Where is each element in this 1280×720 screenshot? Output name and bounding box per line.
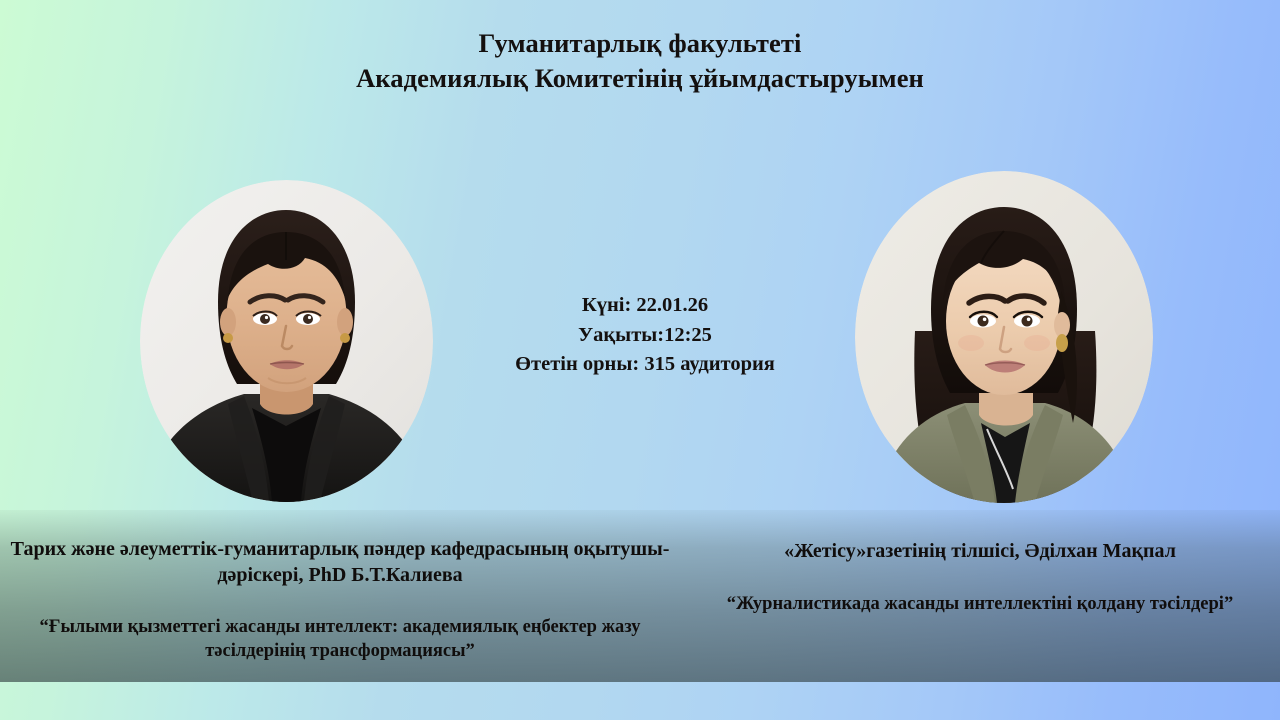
speaker-left-topic: “Ғылыми қызметтегі жасанды интеллект: ак… <box>10 615 670 664</box>
event-poster: Гуманитарлық факультеті Академиялық Коми… <box>0 0 1280 720</box>
event-details: Күні: 22.01.26 Уақыты:12:25 Өтетін орны:… <box>440 291 850 380</box>
speaker-right-caption: «Жетісу»газетінің тілшісі, Әділхан Мақпа… <box>690 538 1270 617</box>
speaker-right-name: «Жетісу»газетінің тілшісі, Әділхан Мақпа… <box>690 538 1270 564</box>
portrait-right-illustration <box>855 171 1153 503</box>
poster-header: Гуманитарлық факультеті Академиялық Коми… <box>0 26 1280 96</box>
speaker-right-topic: “Журналистикада жасанды интеллектіні қол… <box>690 592 1270 616</box>
event-date: Күні: 22.01.26 <box>440 291 850 321</box>
portrait-photo-speaker-left <box>140 180 433 502</box>
event-time: Уақыты:12:25 <box>440 321 850 351</box>
portrait-left-illustration <box>140 180 433 502</box>
speaker-left-caption: Тарих және әлеуметтік-гуманитарлық пәнде… <box>10 536 670 664</box>
speaker-left-name: Тарих және әлеуметтік-гуманитарлық пәнде… <box>10 536 670 589</box>
event-venue: Өтетін орны: 315 аудитория <box>440 350 850 380</box>
header-line-committee: Академиялық Комитетінің ұйымдастыруымен <box>0 61 1280 96</box>
caption-band: Тарих және әлеуметтік-гуманитарлық пәнде… <box>0 510 1280 682</box>
header-line-faculty: Гуманитарлық факультеті <box>479 28 802 58</box>
portrait-photo-speaker-right <box>855 171 1153 503</box>
